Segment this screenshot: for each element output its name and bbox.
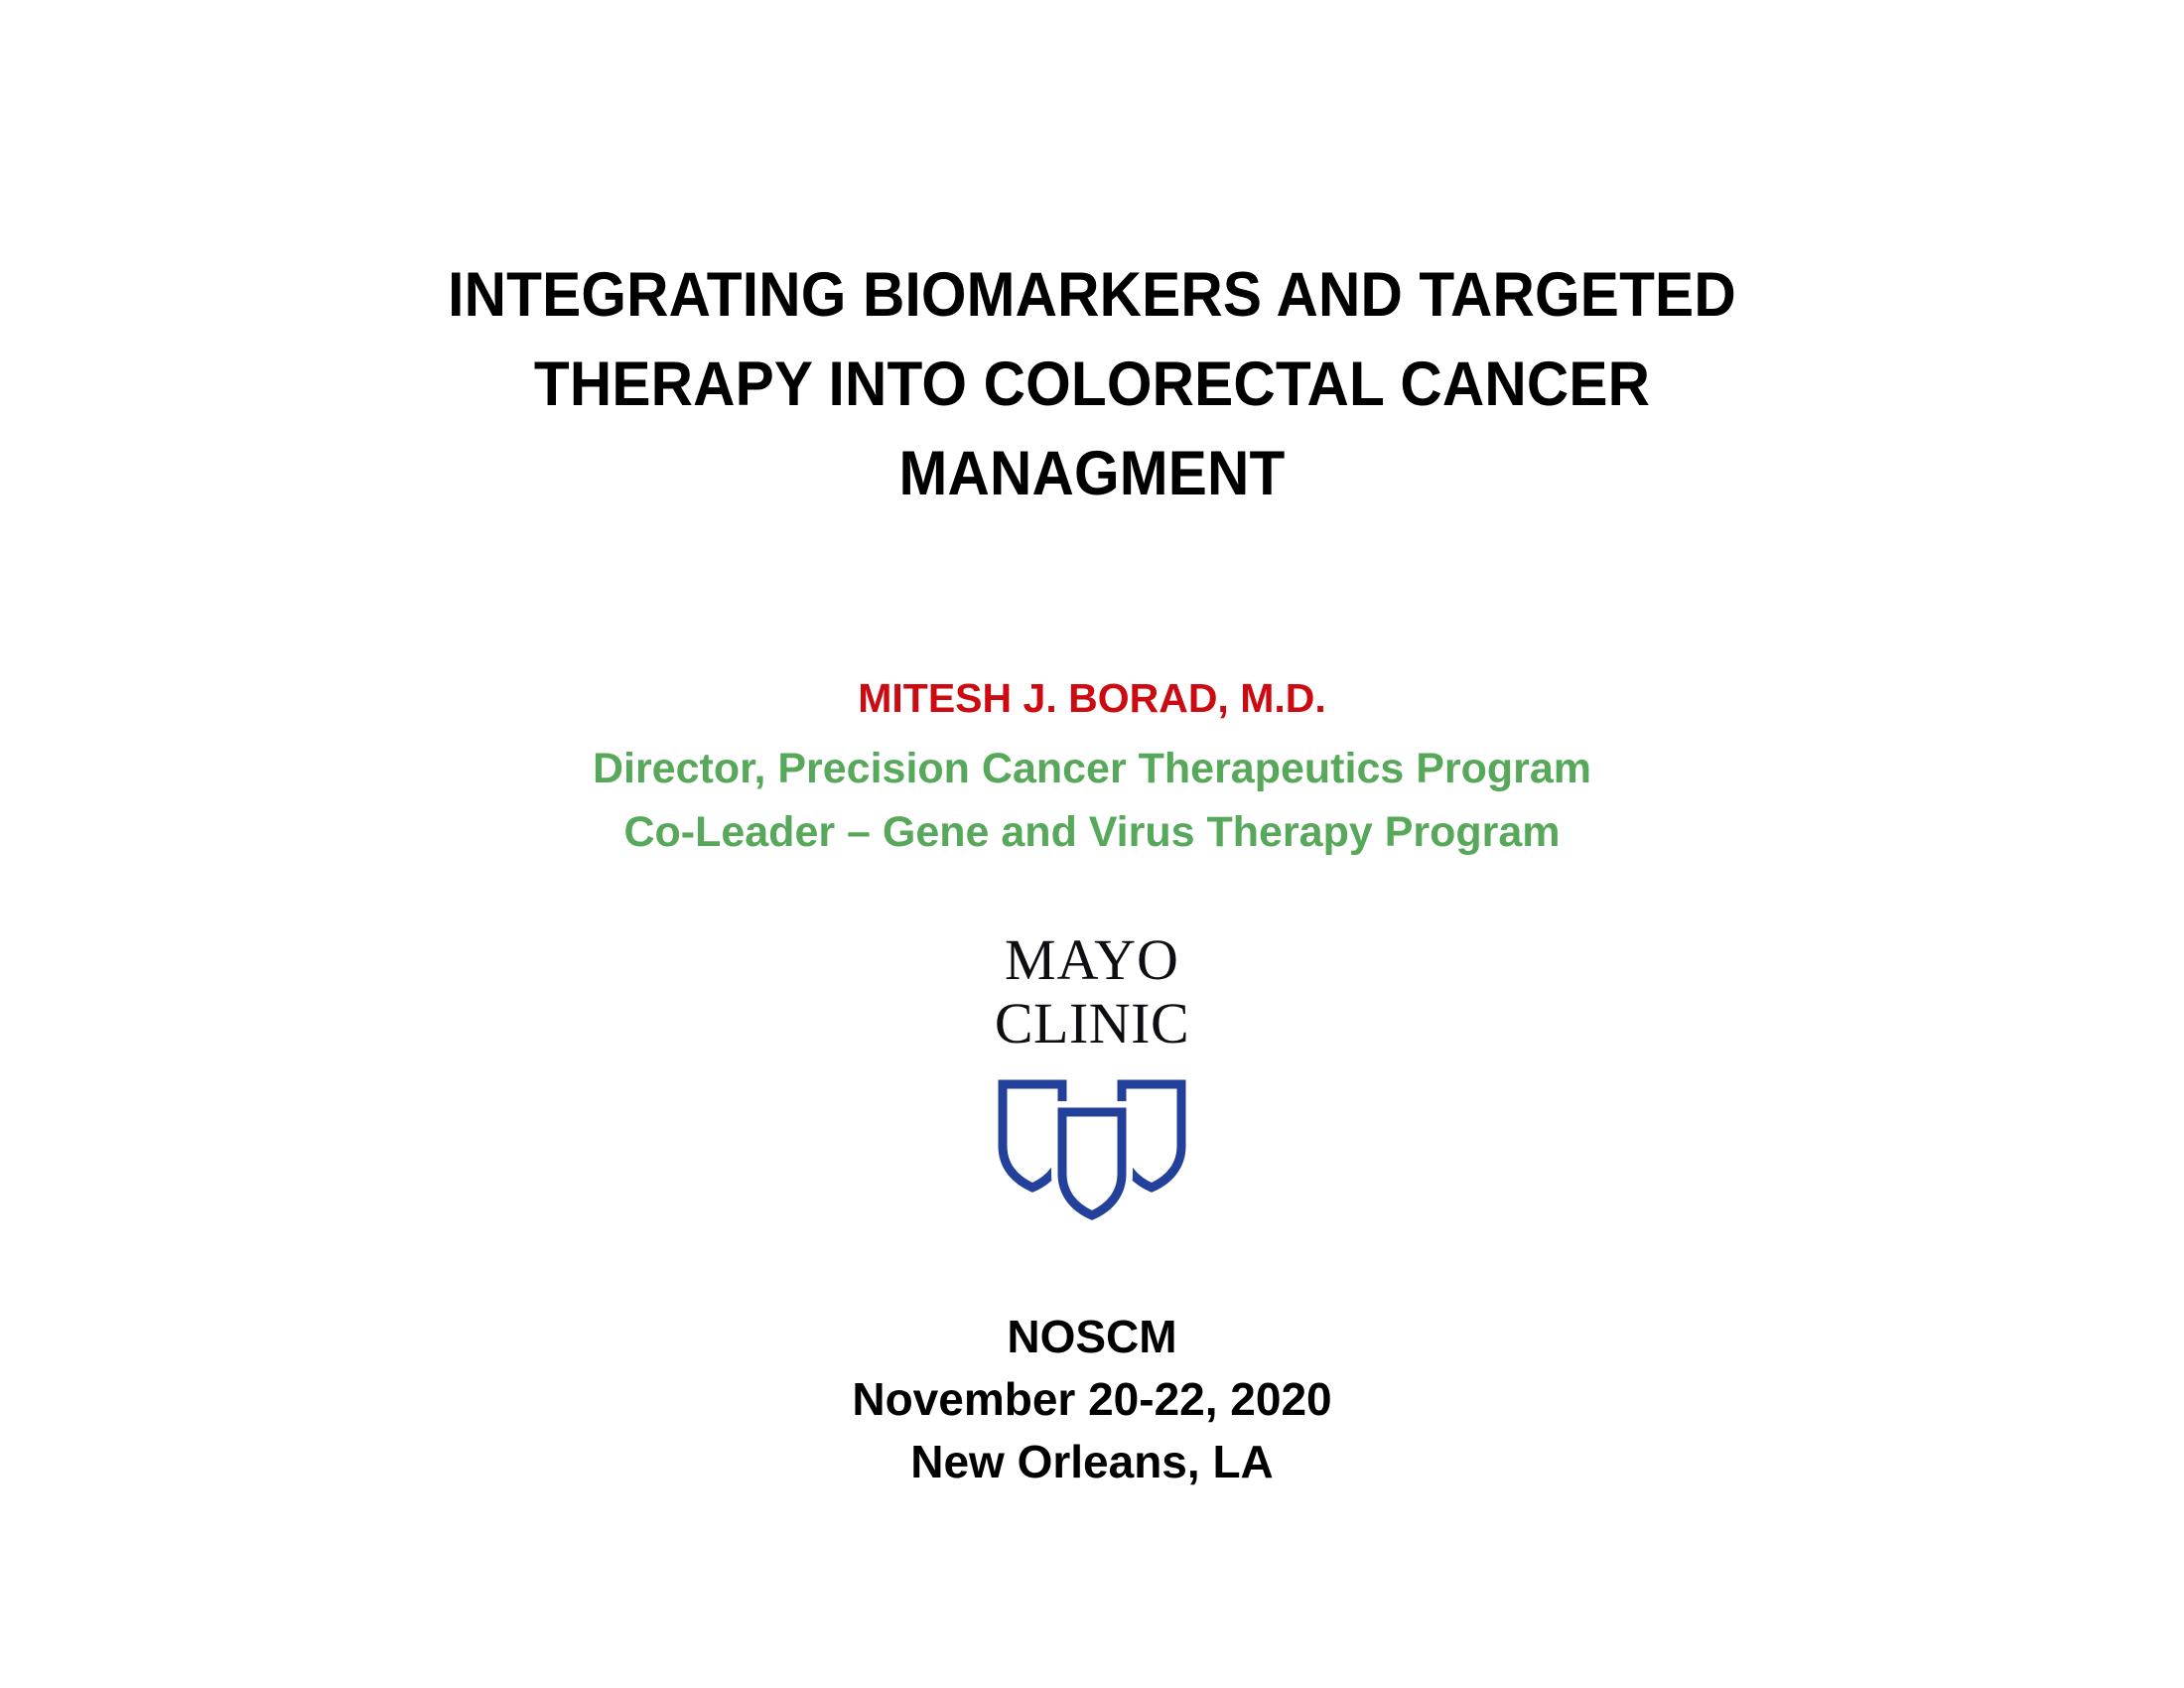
presenter-role-2: Co-Leader – Gene and Virus Therapy Progr… (298, 800, 1886, 864)
mayo-clinic-wordmark: MAYO CLINIC (995, 931, 1189, 1053)
title-line-2: THERAPY INTO COLORECTAL CANCER (353, 340, 1831, 429)
mayo-clinic-logo: MAYO CLINIC (0, 931, 2184, 1228)
slide-title: INTEGRATING BIOMARKERS AND TARGETED THER… (298, 250, 1886, 518)
three-shields-icon (993, 1074, 1191, 1228)
title-slide: INTEGRATING BIOMARKERS AND TARGETED THER… (0, 0, 2184, 1688)
event-details: NOSCM November 20-22, 2020 New Orleans, … (298, 1306, 1886, 1493)
wordmark-clinic: CLINIC (995, 995, 1189, 1053)
title-line-1: INTEGRATING BIOMARKERS AND TARGETED (353, 250, 1831, 340)
event-name: NOSCM (298, 1306, 1886, 1368)
title-line-3: MANAGMENT (353, 429, 1831, 518)
presenter-roles: Director, Precision Cancer Therapeutics … (298, 737, 1886, 864)
event-dates: November 20-22, 2020 (298, 1368, 1886, 1431)
presenter-info: MITESH J. BORAD, M.D. Director, Precisio… (298, 671, 1886, 864)
presenter-role-1: Director, Precision Cancer Therapeutics … (298, 737, 1886, 800)
event-location: New Orleans, LA (298, 1431, 1886, 1493)
wordmark-mayo: MAYO (1005, 931, 1179, 989)
presenter-name: MITESH J. BORAD, M.D. (298, 671, 1886, 726)
